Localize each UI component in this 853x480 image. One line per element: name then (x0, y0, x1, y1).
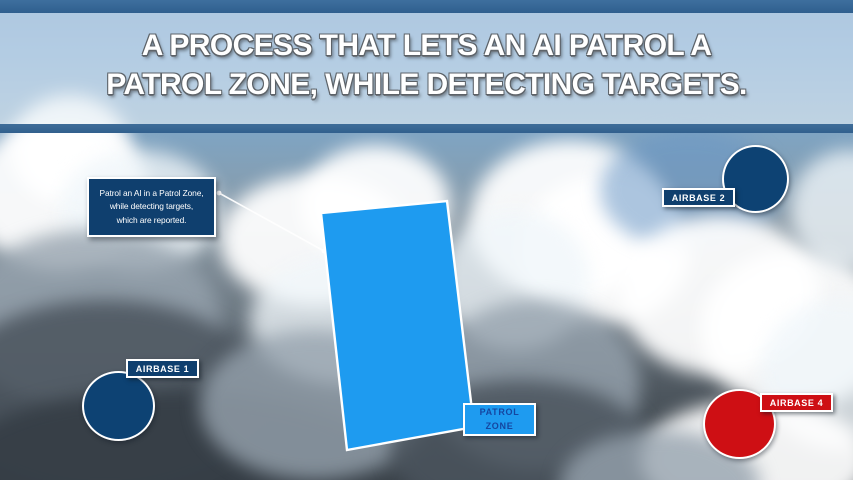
airbase-1-label[interactable]: AIRBASE 1 (126, 359, 199, 378)
callout-text-body: Patrol an AI in a Patrol Zone, while det… (94, 187, 208, 227)
banner-strip-bottom (0, 124, 853, 133)
airbase-2-label-text: AIRBASE 2 (672, 193, 725, 203)
patrol-zone-label-line-2: ZONE (486, 420, 514, 433)
airbase-1-label-text: AIRBASE 1 (136, 364, 189, 374)
callout-line-3: which are reported. (117, 215, 187, 225)
patrol-zone-label[interactable]: PATROL ZONE (463, 403, 536, 436)
callout-line-1: Patrol an AI in a Patrol Zone, (99, 188, 203, 198)
title-line-2: PATROL ZONE, WHILE DETECTING TARGETS. (0, 65, 853, 104)
airbase-4-label[interactable]: AIRBASE 4 (760, 393, 833, 412)
page-title: A PROCESS THAT LETS AN AI PATROL A PATRO… (0, 26, 853, 104)
airbase-4-label-text: AIRBASE 4 (770, 398, 823, 408)
banner-strip-top (0, 0, 853, 13)
airbase-1-circle[interactable] (82, 371, 155, 441)
callout-textbox: Patrol an AI in a Patrol Zone, while det… (87, 177, 216, 237)
airbase-2-label[interactable]: AIRBASE 2 (662, 188, 735, 207)
title-line-1: A PROCESS THAT LETS AN AI PATROL A (0, 26, 853, 65)
patrol-zone-label-line-1: PATROL (480, 406, 520, 419)
callout-line-2: while detecting targets, (110, 201, 193, 211)
slide-canvas: Patrol an AI in a Patrol Zone, while det… (0, 0, 853, 480)
